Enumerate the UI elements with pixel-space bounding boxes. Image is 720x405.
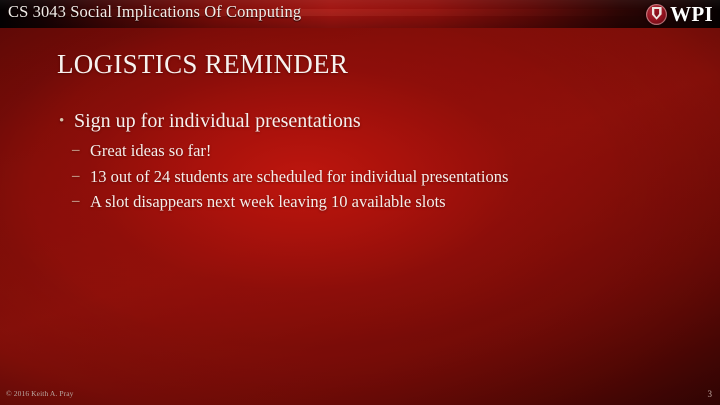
wpi-brand-text: WPI [670, 4, 713, 25]
course-title: CS 3043 Social Implications Of Computing [8, 2, 301, 22]
bullet-marker-dash: – [72, 138, 80, 164]
bullet-text-1: Sign up for individual presentations [74, 110, 361, 132]
bullet-item-3: – 13 out of 24 students are scheduled fo… [56, 164, 696, 190]
bullet-text-3: 13 out of 24 students are scheduled for … [90, 167, 508, 186]
bullet-text-4: A slot disappears next week leaving 10 a… [90, 192, 446, 211]
page-number: 3 [708, 389, 713, 399]
bullet-item-2: – Great ideas so far! [56, 138, 696, 164]
bullet-text-2: Great ideas so far! [90, 141, 211, 160]
bullet-list: • Sign up for individual presentations –… [56, 108, 696, 215]
bullet-marker-dash: – [72, 164, 80, 190]
slide-canvas: CS 3043 Social Implications Of Computing… [0, 0, 720, 405]
bullet-item-1: • Sign up for individual presentations [56, 108, 696, 135]
bullet-item-4: – A slot disappears next week leaving 10… [56, 189, 696, 215]
wpi-seal-icon [646, 4, 667, 25]
slide-title: LOGISTICS REMINDER [57, 48, 348, 80]
wpi-brand: WPI [646, 1, 713, 27]
bullet-marker-dash: – [72, 189, 80, 215]
bullet-marker-dot: • [59, 108, 64, 135]
copyright-notice: © 2016 Keith A. Pray [6, 389, 74, 399]
